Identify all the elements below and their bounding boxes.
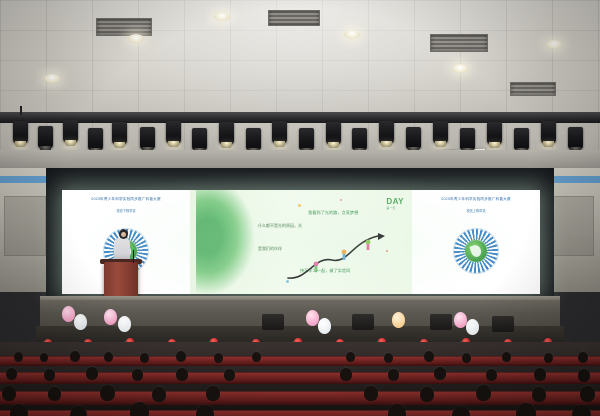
audience-head xyxy=(364,386,378,401)
stage-lamp xyxy=(88,128,103,150)
science-emblem-icon xyxy=(453,228,499,274)
lighting-truss-front xyxy=(0,112,600,123)
balloon-decor xyxy=(118,316,131,332)
audience-head xyxy=(152,387,166,402)
audience-area xyxy=(0,342,600,416)
audience-head xyxy=(196,405,214,416)
seat-row xyxy=(0,410,600,416)
confetti-dot xyxy=(298,204,301,207)
audience-head xyxy=(346,352,355,362)
audience-head xyxy=(578,369,590,382)
day-badge-label: DAY xyxy=(386,197,404,206)
ceiling-downlight-4 xyxy=(452,64,468,73)
lamp-stem xyxy=(20,106,22,115)
audience-head xyxy=(532,387,546,402)
audience-head xyxy=(6,368,17,380)
slide-mid-text-left-2: 是我们的伙伴 xyxy=(258,246,282,252)
balloon-decor xyxy=(62,306,75,322)
stage-lamp xyxy=(192,128,207,150)
slide-panel-right: 2020年青少年科学实验同步推广科普大赛 校赛上物章说 xyxy=(412,190,540,294)
balloon-decor xyxy=(466,319,479,335)
auditorium-screenshot: 2020年青少年科学实验同步推广科普大赛 校赛下物章说 辅导老师团队 我看到了光… xyxy=(0,0,600,416)
audience-head xyxy=(48,387,61,401)
day-badge-sub: 第一天 xyxy=(386,206,404,210)
stage-lamp xyxy=(433,121,448,143)
ceiling-vent-mid xyxy=(268,10,320,26)
balloon-decor xyxy=(74,314,87,330)
stage-monitor-box xyxy=(430,314,452,330)
presenter-face xyxy=(121,232,126,237)
microphone-stand xyxy=(133,250,134,263)
stage-lamp xyxy=(38,126,53,148)
emblem-leaf-icon xyxy=(465,240,487,262)
ceiling-downlight-2 xyxy=(214,12,230,21)
slide-left-subtitle: 校赛下物章说 xyxy=(68,208,184,213)
audience-head xyxy=(502,352,511,362)
stage-lamp xyxy=(326,122,341,144)
ceiling-downlight-3 xyxy=(344,30,360,39)
stage-lamp xyxy=(379,121,394,143)
audience-head xyxy=(214,353,223,363)
stage-lamp xyxy=(541,121,556,143)
confetti-dot xyxy=(340,199,342,201)
audience-head xyxy=(388,369,399,381)
stage-lamp xyxy=(487,122,502,144)
audience-head xyxy=(44,369,55,381)
audience-head xyxy=(176,368,188,381)
audience-head xyxy=(176,351,186,362)
stage-lamp xyxy=(112,122,127,144)
stage-lamp xyxy=(246,128,261,150)
audience-head xyxy=(578,352,588,363)
ceiling-vent-right xyxy=(430,34,488,52)
audience-head xyxy=(70,351,80,362)
growth-curve-illustration xyxy=(286,230,406,282)
audience-head xyxy=(434,367,446,380)
day-badge: DAY 第一天 xyxy=(386,197,404,210)
audience-head xyxy=(534,368,546,381)
stage-lamp xyxy=(166,121,181,143)
stage-lamp xyxy=(406,127,421,149)
stage-lamp xyxy=(352,128,367,150)
stage-lamp xyxy=(460,128,475,150)
audience-head xyxy=(206,386,220,401)
slide-mid-text-left: 什么都不是光的原因，光 xyxy=(258,223,302,229)
balloon-decor xyxy=(318,318,331,334)
audience-head xyxy=(86,367,98,380)
audience-head xyxy=(384,353,393,363)
audience-head xyxy=(2,386,16,401)
stage-lamp xyxy=(514,128,529,150)
ceiling-downlight-6 xyxy=(546,40,562,49)
audience-head xyxy=(14,352,23,362)
audience-head xyxy=(572,405,591,416)
audience-head xyxy=(420,387,434,402)
audience-head xyxy=(132,369,143,381)
decorative-green-blob xyxy=(196,190,254,294)
audience-head xyxy=(70,406,87,416)
confetti-dot xyxy=(386,250,388,252)
slide-left-title: 2020年青少年科学实验同步推广科普大赛 xyxy=(68,197,184,202)
balloon-decor xyxy=(392,312,405,328)
stage-monitor-box xyxy=(492,316,514,332)
slide-panel-middle: 我看到了光的路，点亮梦想 什么都不是光的原因，光 是我们的伙伴 快乐学习一起，做… xyxy=(190,190,412,294)
audience-head xyxy=(424,351,434,362)
audience-head xyxy=(580,386,595,402)
audience-head xyxy=(476,385,491,401)
stage-lamp xyxy=(568,127,583,149)
audience-head xyxy=(388,404,406,416)
ceiling-downlight-1 xyxy=(128,34,144,43)
balloon-decor xyxy=(306,310,319,326)
wall-panel-left xyxy=(4,196,46,256)
wall-accent-stripe-left xyxy=(0,176,48,183)
audience-head xyxy=(462,353,471,363)
wall-accent-stripe-right xyxy=(548,176,600,183)
wall-panel-right xyxy=(548,196,594,256)
seat-row xyxy=(0,391,600,405)
slide-right-subtitle: 校赛上物章说 xyxy=(418,208,534,213)
ceiling-vent-left xyxy=(96,18,152,36)
audience-head xyxy=(486,369,497,381)
stage-lamp xyxy=(299,128,314,150)
stage-lamp xyxy=(63,120,78,142)
stage-lamp xyxy=(272,121,287,143)
audience-head xyxy=(100,385,115,401)
audience-head xyxy=(40,353,48,362)
stage-monitor-box xyxy=(352,314,374,330)
audience-head xyxy=(340,368,352,381)
audience-head xyxy=(140,353,149,363)
audience-head xyxy=(130,402,149,416)
slide-right-title: 2020年青少年科学实验同步推广科普大赛 xyxy=(418,197,534,202)
audience-head xyxy=(252,352,261,362)
audience-head xyxy=(544,353,553,363)
ceiling-vent-far xyxy=(510,82,556,96)
stage-lamp xyxy=(219,122,234,144)
audience-head xyxy=(104,352,113,362)
stage-lamp xyxy=(13,121,28,143)
confetti-dot xyxy=(286,280,289,283)
balloon-decor xyxy=(104,309,117,325)
stage-lamp xyxy=(140,127,155,149)
audience-head xyxy=(10,404,28,416)
ceiling-downlight-5 xyxy=(44,74,60,83)
stage-monitor-box xyxy=(262,314,284,330)
slide-mid-text-top: 我看到了光的路，点亮梦想 xyxy=(308,210,358,217)
audience-head xyxy=(224,369,235,381)
audience-head xyxy=(452,406,470,416)
